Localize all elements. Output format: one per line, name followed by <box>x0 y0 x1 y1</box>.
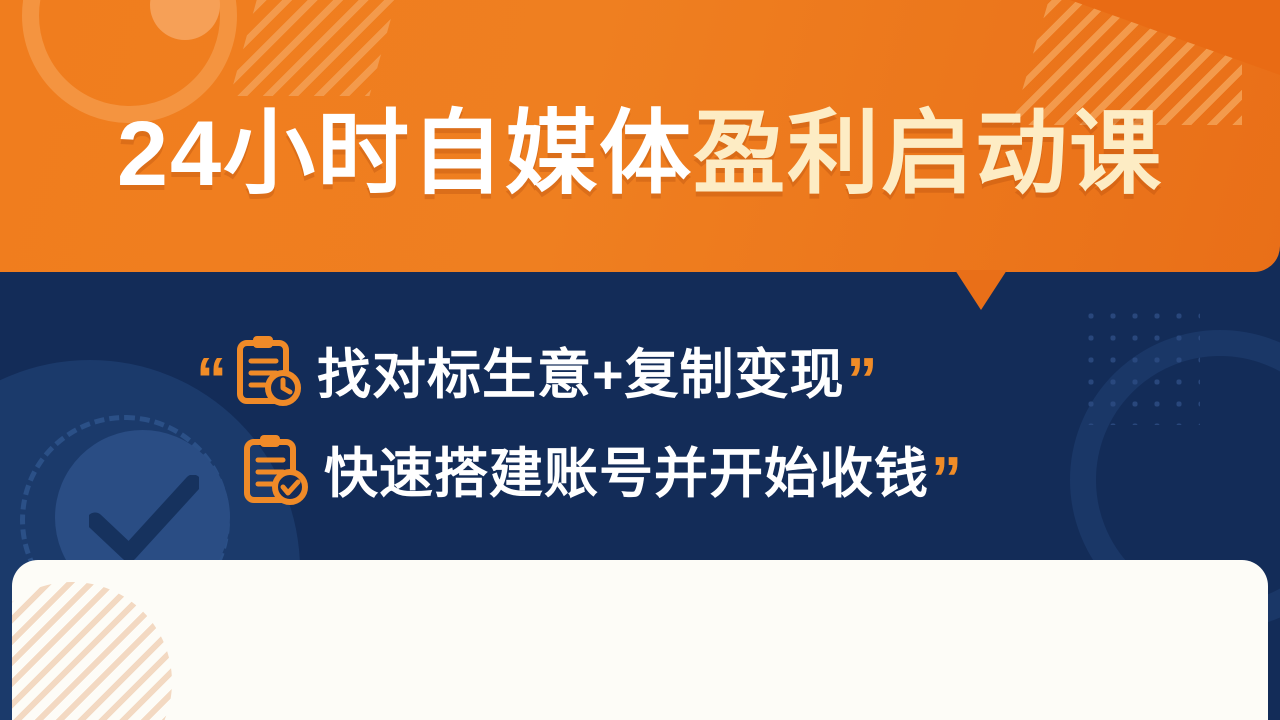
poster-root: 24小时自媒体盈利启动课 “ 找对标生意+复制变现 ” <box>0 0 1280 720</box>
subtitle-line-2: 快速搭建账号 并开始收钱 ” <box>240 434 962 513</box>
bottom-card <box>12 560 1268 720</box>
subtitle-line-2-highlight: 并开始收钱 <box>654 447 929 501</box>
subtitle-line-1-text: 找对标生意+复制变现 <box>317 348 845 402</box>
page-title-accent: 盈利启动课 <box>693 103 1163 205</box>
decor-card-stripes <box>12 582 172 720</box>
banner-speech-tail <box>955 270 1007 310</box>
quote-open-mark: “ <box>196 350 227 412</box>
clipboard-check-icon <box>240 434 310 513</box>
quote-close-mark-2: ” <box>931 449 962 511</box>
decor-dot-grid <box>1080 305 1200 425</box>
clipboard-clock-icon <box>233 335 303 414</box>
page-title-main: 24小时自媒体 <box>117 103 693 205</box>
page-title: 24小时自媒体盈利启动课 <box>0 108 1280 200</box>
decor-banner-stripes-left <box>230 0 400 96</box>
subtitle-line-2-text: 快速搭建账号 <box>324 447 654 501</box>
quote-close-mark-1: ” <box>847 350 878 412</box>
subtitle-line-1: “ 找对标生意+复制变现 ” <box>196 335 878 414</box>
